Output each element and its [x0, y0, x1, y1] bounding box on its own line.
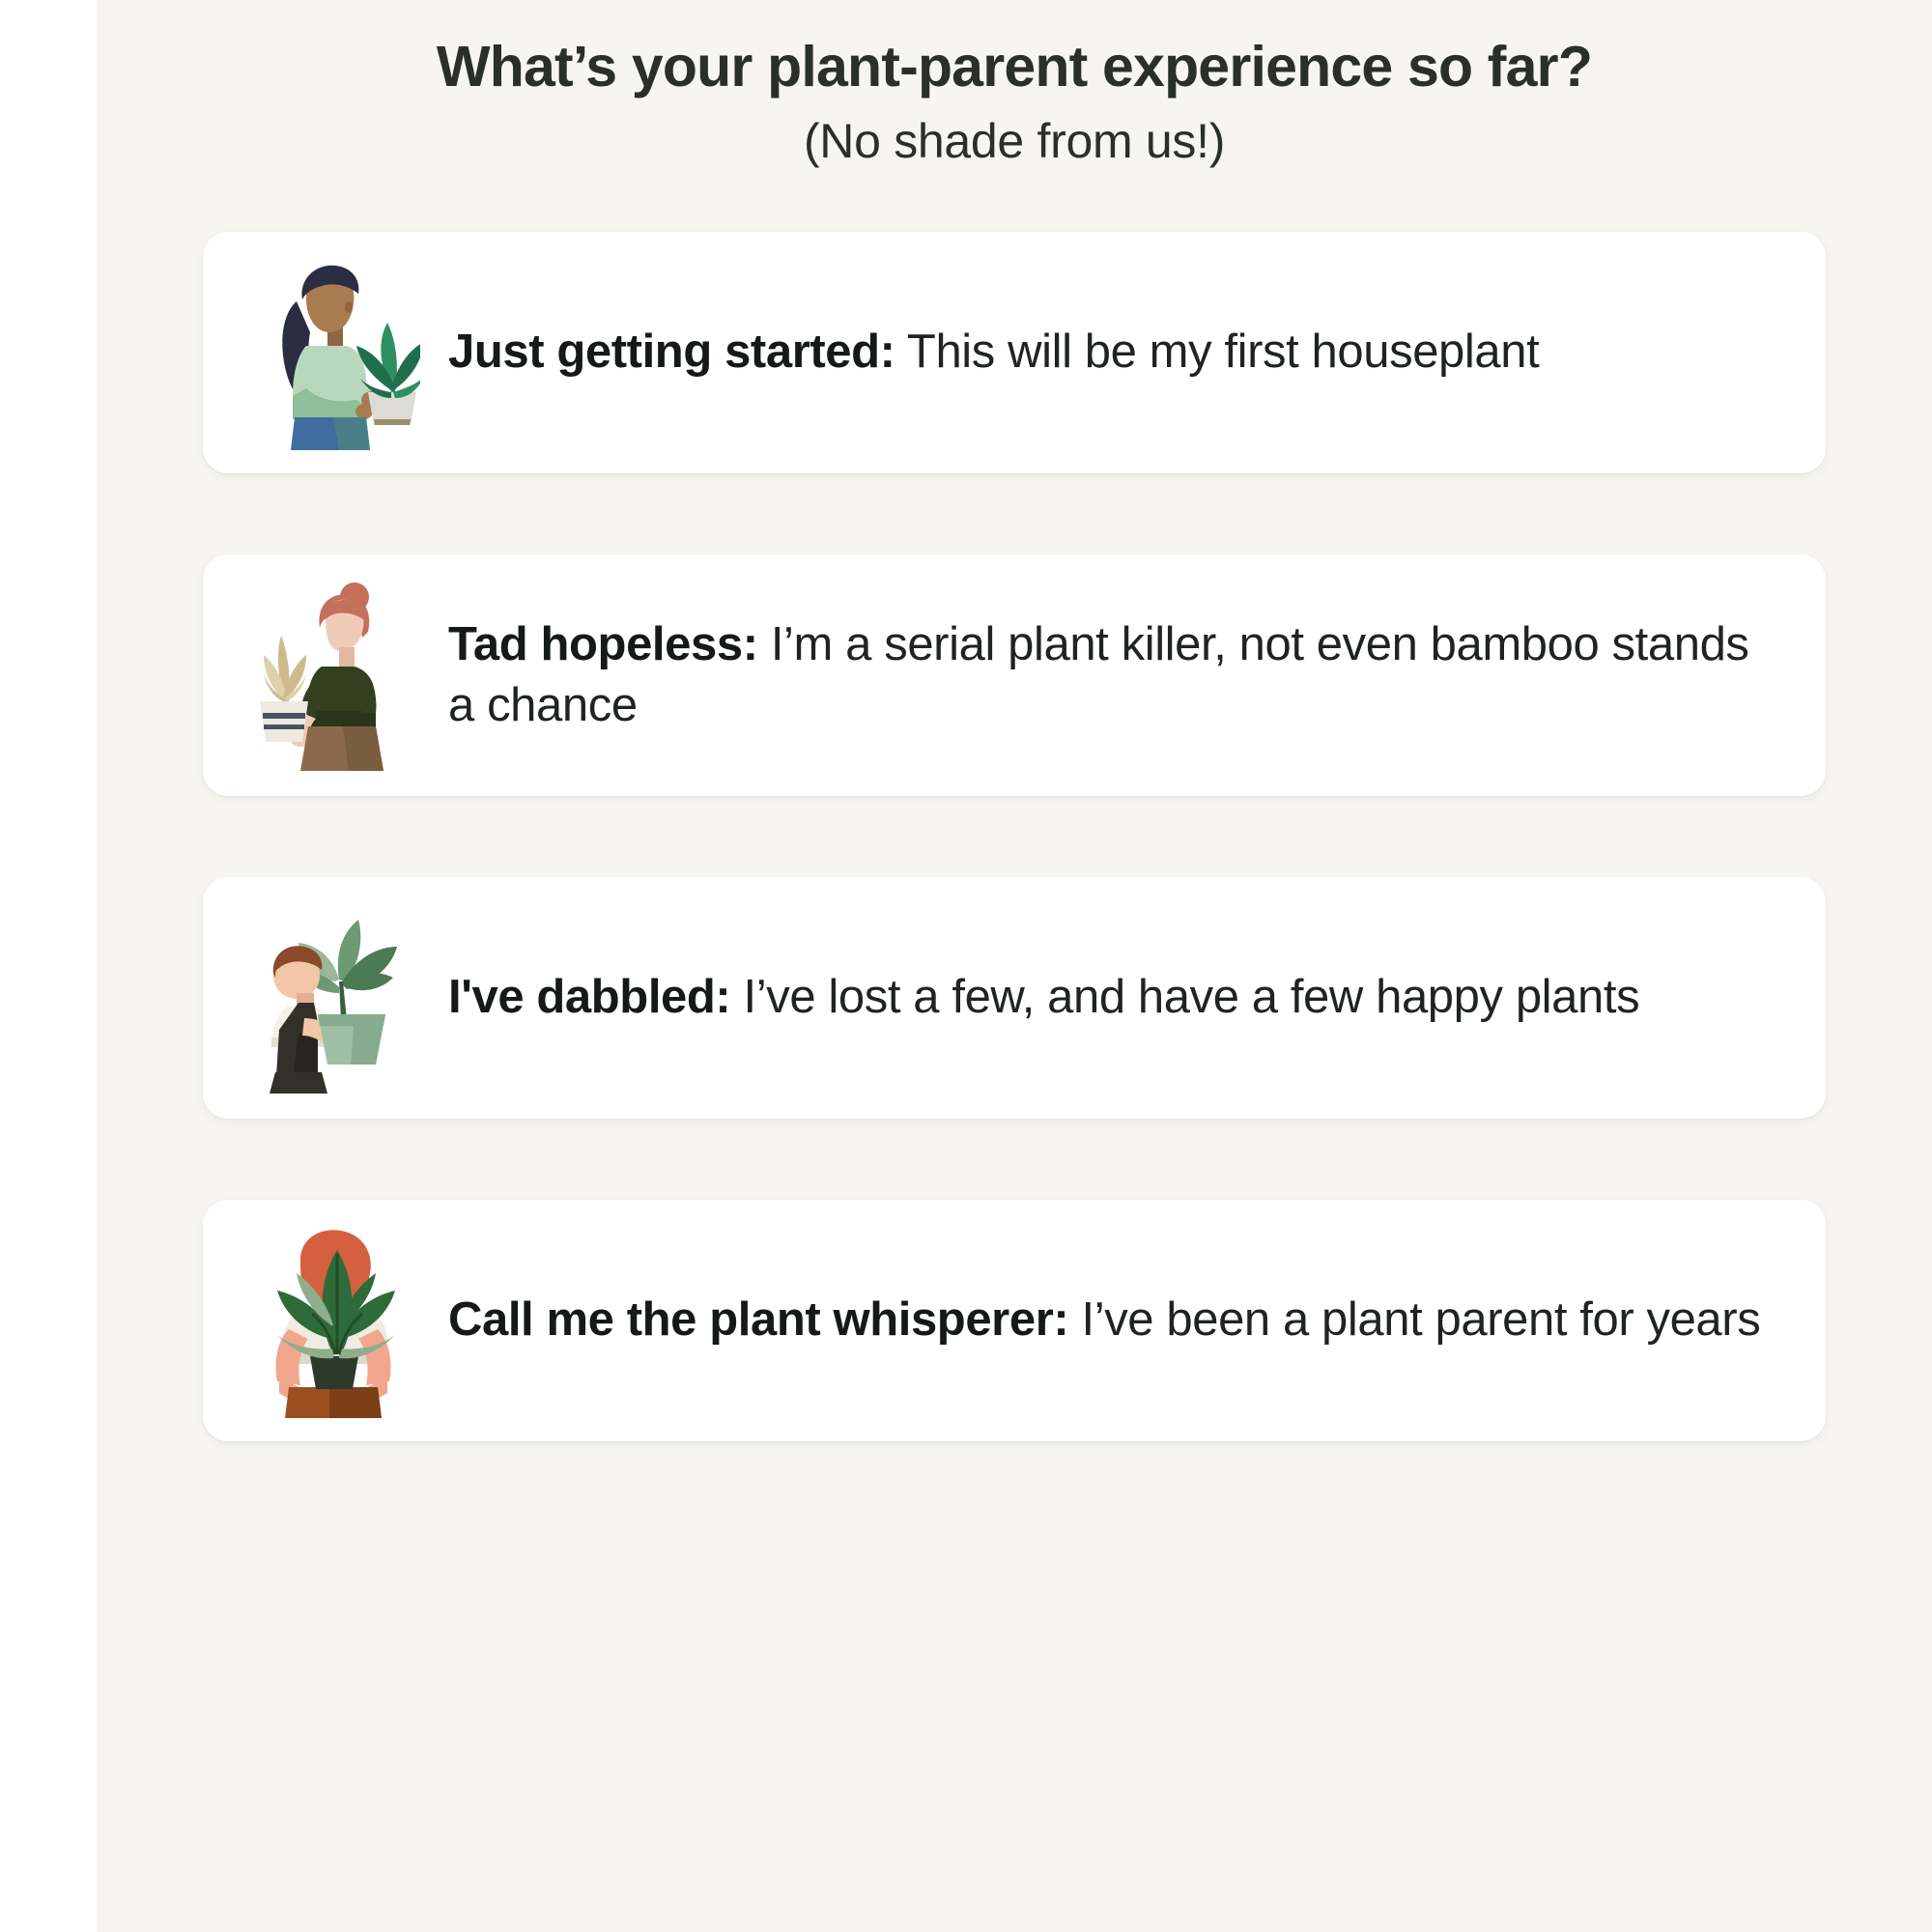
option-card-plant-whisperer[interactable]: Call me the plant whisperer: I’ve been a…	[203, 1200, 1826, 1441]
survey-header: What’s your plant-parent experience so f…	[97, 0, 1932, 170]
page-title: What’s your plant-parent experience so f…	[97, 35, 1932, 99]
option-card-tad-hopeless[interactable]: Tad hopeless: I’m a serial plant killer,…	[203, 554, 1826, 796]
option-body: I’ve been a plant parent for years	[1068, 1293, 1760, 1346]
option-label: Call me the plant whisperer: I’ve been a…	[425, 1290, 1760, 1350]
option-body: I’ve lost a few, and have a few happy pl…	[730, 971, 1639, 1023]
option-body: This will be my first houseplant	[895, 326, 1540, 378]
page-subtitle: (No shade from us!)	[97, 114, 1932, 170]
option-label: Tad hopeless: I’m a serial plant killer,…	[425, 614, 1783, 735]
option-card-just-getting-started[interactable]: Just getting started: This will be my fi…	[203, 232, 1826, 473]
woman-holding-dying-plant-icon	[241, 574, 425, 777]
option-lead: Just getting started:	[448, 326, 895, 378]
content-panel: What’s your plant-parent experience so f…	[97, 0, 1932, 1932]
option-label: Just getting started: This will be my fi…	[425, 322, 1539, 383]
person-carrying-large-plant-icon	[241, 896, 425, 1099]
option-list: Just getting started: This will be my fi…	[97, 232, 1932, 1441]
woman-holding-potted-plant-icon	[241, 251, 425, 454]
option-lead: I've dabbled:	[448, 971, 730, 1023]
option-label: I've dabbled: I’ve lost a few, and have …	[425, 967, 1639, 1028]
option-lead: Tad hopeless:	[448, 618, 758, 670]
screen-root: What’s your plant-parent experience so f…	[0, 0, 1932, 1932]
option-lead: Call me the plant whisperer:	[448, 1293, 1068, 1346]
person-hugging-leafy-plant-icon	[241, 1219, 425, 1422]
option-card-ive-dabbled[interactable]: I've dabbled: I’ve lost a few, and have …	[203, 877, 1826, 1119]
